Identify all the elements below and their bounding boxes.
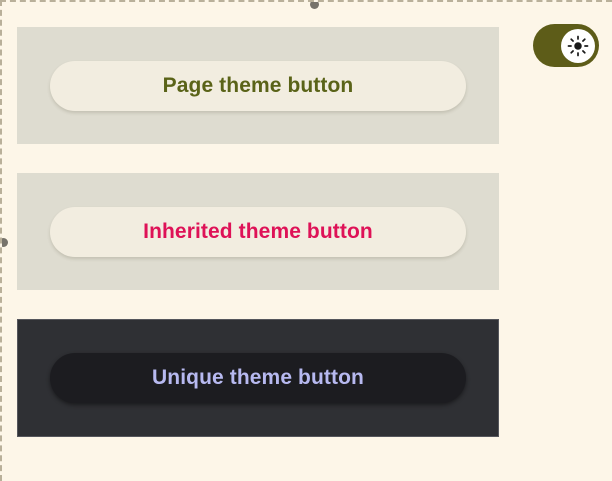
page-theme-card: Page theme button [17,27,499,144]
resize-handle-top[interactable] [310,0,319,9]
inherited-theme-card: Inherited theme button [17,173,499,290]
preview-frame: Page theme button Inherited theme button… [0,0,612,481]
unique-theme-button[interactable]: Unique theme button [50,353,466,403]
inherited-theme-button[interactable]: Inherited theme button [50,207,466,257]
theme-toggle-knob [561,29,595,63]
theme-card-stack: Page theme button Inherited theme button… [17,27,499,437]
resize-handle-left[interactable] [0,238,8,247]
sun-icon [567,35,589,57]
unique-theme-card: Unique theme button [17,319,499,437]
theme-toggle[interactable] [533,24,599,67]
page-theme-button[interactable]: Page theme button [50,61,466,111]
